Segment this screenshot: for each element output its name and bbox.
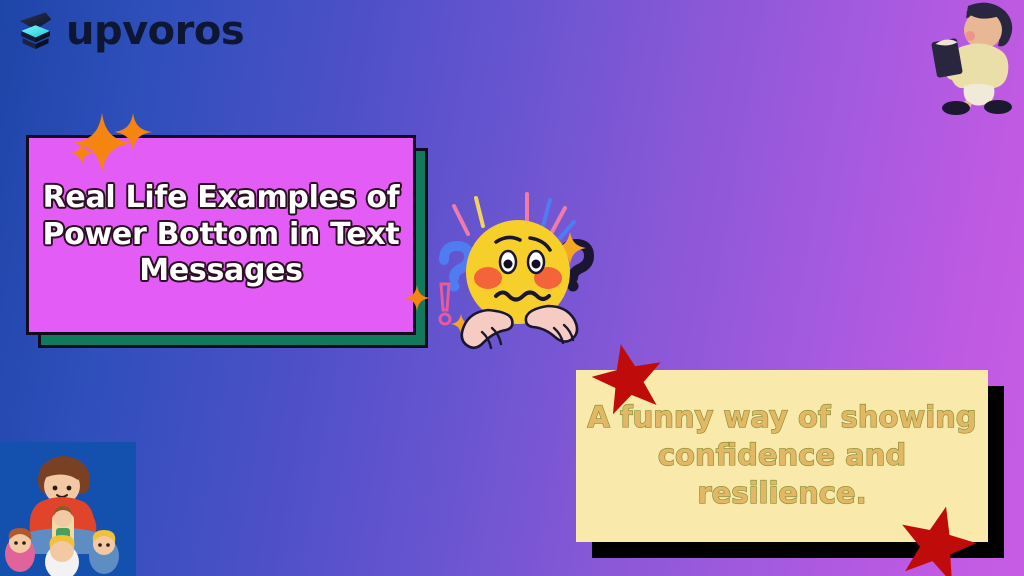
brand-logo[interactable]: upvoros [14,8,244,54]
stacked-layers-icon [14,8,60,54]
star-top-left-icon [592,342,664,414]
toddler-with-book-icon [928,0,1024,115]
page-title: Real Life Examples of Power Bottom in Te… [29,180,413,290]
subtitle-text: A funny way of showing confidence and re… [576,399,988,512]
confused-shrug-emoji-icon [430,180,620,360]
thumbnail-canvas: upvoros Real Life Examples of Power Bott… [0,0,1024,576]
boy-with-dolls-icon [0,442,136,576]
star-bottom-right-icon [898,504,976,576]
sparkle-right-edge-icon [404,284,430,312]
sparkle-medium-icon [114,112,152,152]
brand-name: upvoros [66,11,244,51]
sparkle-small-icon [70,140,94,166]
